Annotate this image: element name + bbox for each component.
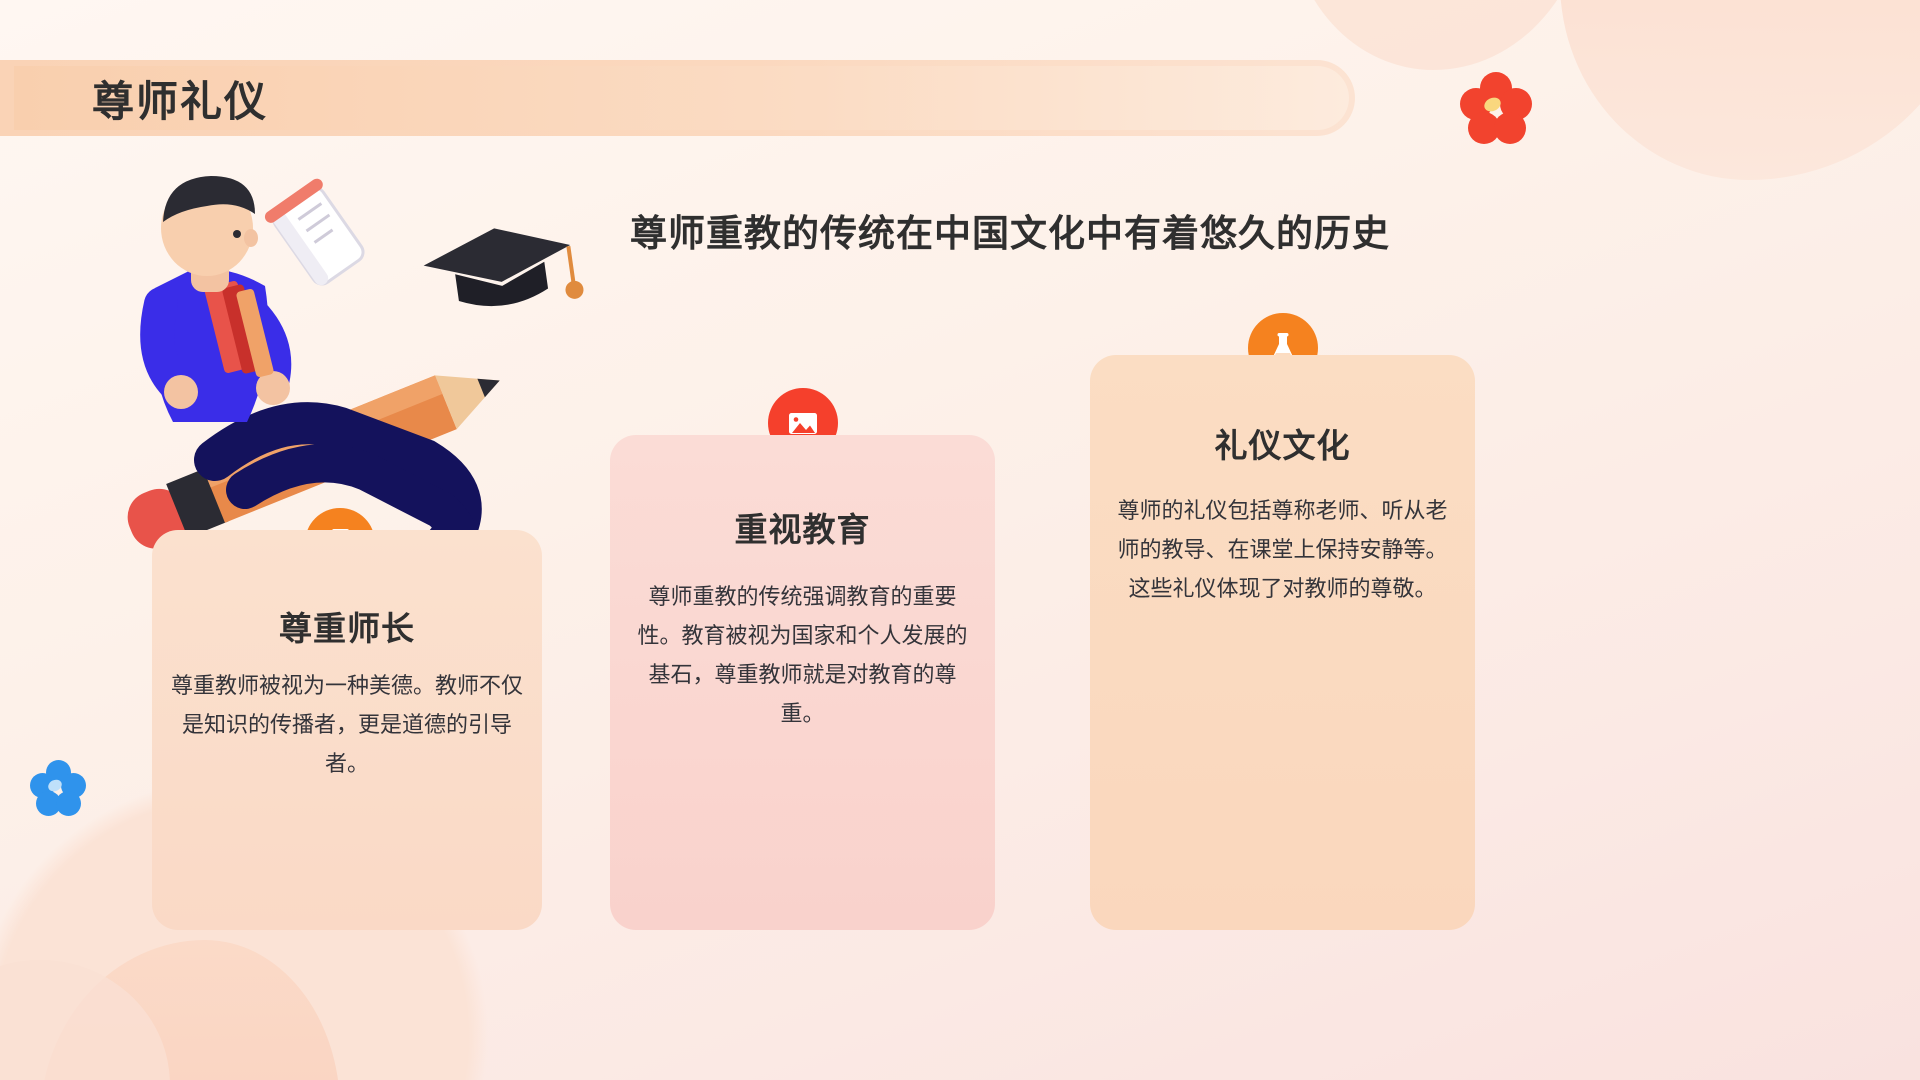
- card-body: 尊师重教的传统强调教育的重要性。教育被视为国家和个人发展的基石，尊重教师就是对教…: [610, 577, 995, 733]
- page-title: 尊师礼仪: [92, 70, 268, 134]
- card-title: 重视教育: [735, 503, 871, 551]
- card-value-education[interactable]: 重视教育 尊师重教的传统强调教育的重要性。教育被视为国家和个人发展的基石，尊重教…: [610, 435, 995, 930]
- headline-text: 尊师重教的传统在中国文化中有着悠久的历史: [630, 203, 1430, 257]
- card-body: 尊师的礼仪包括尊称老师、听从老师的教导、在课堂上保持安静等。这些礼仪体现了对教师…: [1090, 491, 1475, 608]
- slide-canvas: 尊师礼仪 尊师重教的传统在中国文化中有着悠久的历史: [0, 0, 1920, 1080]
- card-etiquette-culture[interactable]: 礼仪文化 尊师的礼仪包括尊称老师、听从老师的教导、在课堂上保持安静等。这些礼仪体…: [1090, 355, 1475, 930]
- card-title: 礼仪文化: [1215, 419, 1351, 467]
- background-blob-top-right: [1560, 0, 1920, 180]
- card-respect-teachers[interactable]: 尊重师长 尊重教师被视为一种美德。教师不仅是知识的传播者，更是道德的引导者。: [152, 530, 542, 930]
- red-flower-icon: [1460, 72, 1532, 144]
- blue-flower-icon: [30, 760, 86, 816]
- card-body: 尊重教师被视为一种美德。教师不仅是知识的传播者，更是道德的引导者。: [152, 666, 542, 783]
- card-title: 尊重师长: [279, 602, 415, 650]
- background-blob-top-right-2: [1290, 0, 1590, 70]
